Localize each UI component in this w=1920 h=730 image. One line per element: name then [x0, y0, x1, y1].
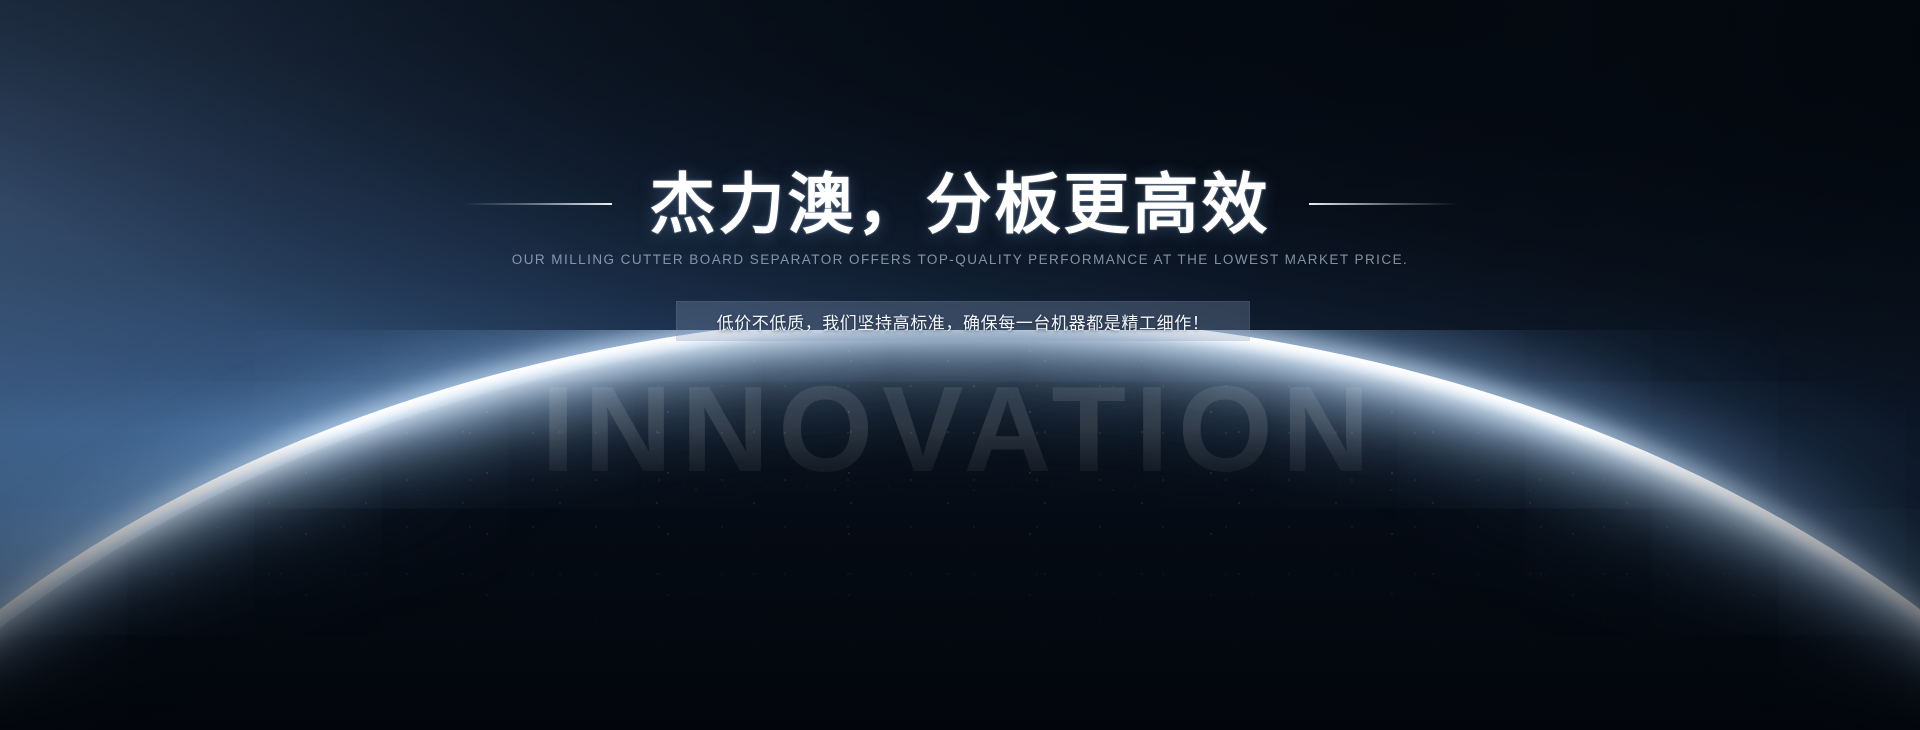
tagline-banner: 低价不低质，我们坚持高标准，确保每一台机器都是精工细作！: [676, 301, 1250, 341]
page-title: 杰力澳，分板更高效: [650, 166, 1271, 243]
subtitle-text: OUR MILLING CUTTER BOARD SEPARATOR OFFER…: [0, 252, 1920, 267]
background-right-vignette: [0, 0, 1920, 730]
tagline-text: 低价不低质，我们坚持高标准，确保每一台机器都是精工细作！: [717, 309, 1210, 334]
decorative-rule-right-icon: [1309, 203, 1457, 205]
hero-banner: INNOVATION 杰力澳，分板更高效 OUR MILLING CUTTER …: [0, 0, 1920, 730]
decorative-rule-left-icon: [464, 203, 612, 205]
